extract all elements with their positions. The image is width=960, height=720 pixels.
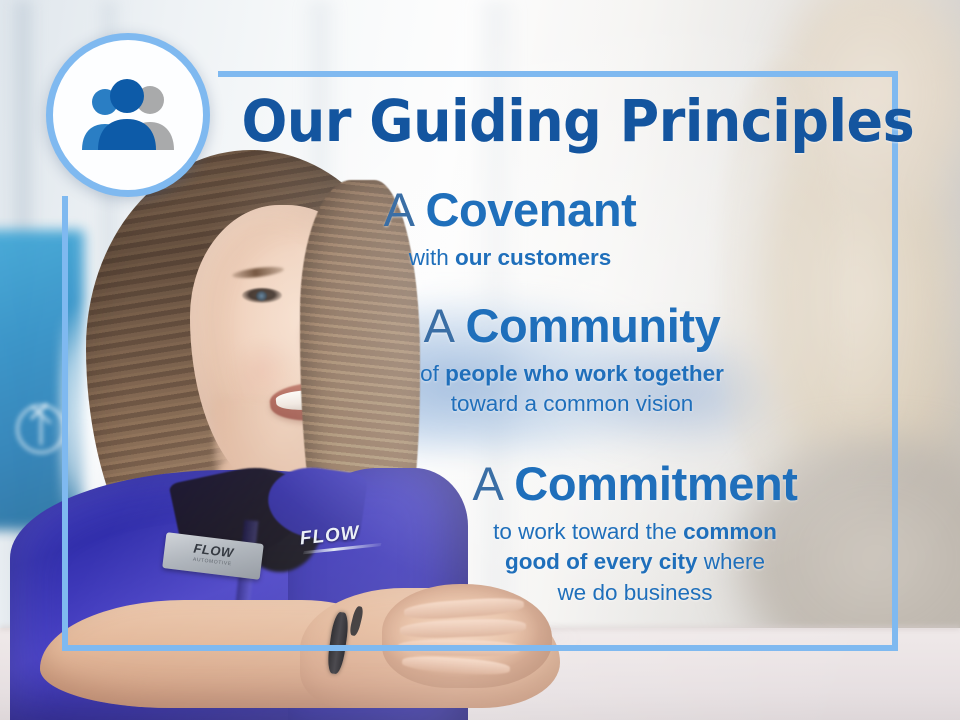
principle-commitment-subtext: to work toward the common good of every … (400, 517, 870, 609)
community-sub-line2: toward a common vision (451, 391, 694, 416)
principle-covenant: A Covenant with our customers (300, 186, 720, 273)
page-title: Our Guiding Principles (242, 92, 867, 150)
principle-covenant-word: Covenant (425, 183, 636, 236)
principle-community: A Community of people who work together … (352, 302, 792, 418)
principle-commitment-heading: A Commitment (400, 460, 870, 509)
principle-community-heading: A Community (352, 302, 792, 351)
community-sub-bold: people who work together (445, 361, 724, 386)
principle-commitment: A Commitment to work toward the common g… (400, 460, 870, 609)
principle-commitment-article: A (472, 457, 501, 510)
commitment-sub-bold2: good of every city (505, 549, 698, 574)
principle-community-subtext: of people who work together toward a com… (352, 359, 792, 418)
principle-covenant-article: A (384, 183, 413, 236)
people-group-badge (46, 33, 210, 197)
woman-eye-left (242, 288, 282, 303)
commitment-sub-line3: we do business (557, 580, 712, 605)
banner-canvas: FLOW AUTOMOTIVE FLOW (0, 0, 960, 720)
people-group-icon (76, 78, 180, 152)
community-sub-line1: of people who work together (420, 361, 724, 386)
commitment-sub-bold1: common (683, 519, 777, 544)
principle-covenant-subtext: with our customers (300, 243, 720, 273)
principle-covenant-heading: A Covenant (300, 186, 720, 235)
covenant-sub-bold: our customers (455, 245, 611, 270)
principle-community-word: Community (465, 299, 720, 352)
commitment-sub-tail: where (698, 549, 766, 574)
commitment-sub-lead: to work toward the (493, 519, 683, 544)
principle-commitment-word: Commitment (514, 457, 797, 510)
community-sub-lead: of (420, 361, 445, 386)
covenant-sub-lead: with (409, 245, 455, 270)
principle-community-article: A (424, 299, 453, 352)
